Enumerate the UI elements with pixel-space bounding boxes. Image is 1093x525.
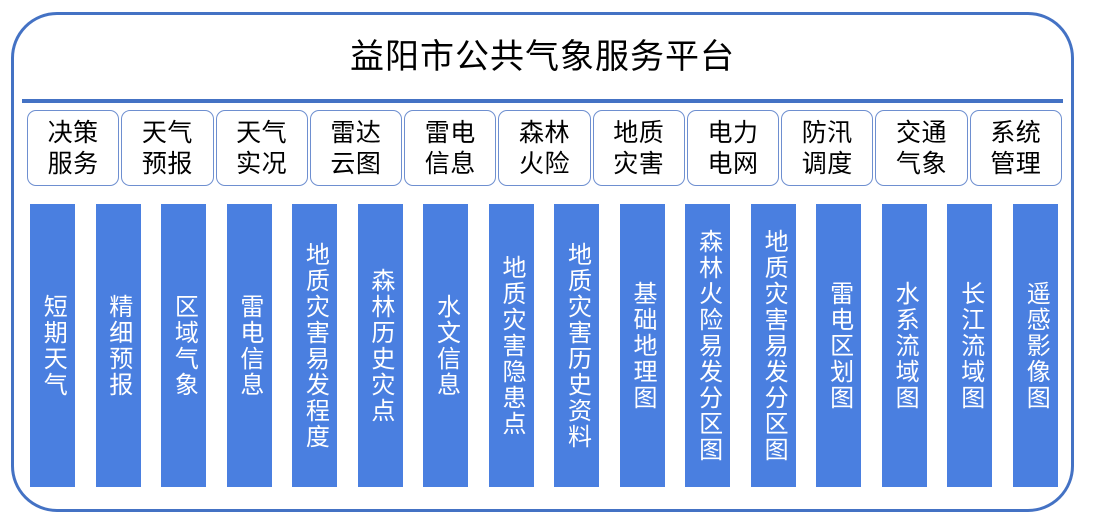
menu-item-label-line2: 服务 (48, 148, 99, 179)
application-frame: 益阳市公共气象服务平台 决策 服务 天气 预报 天气 实况 雷达 云图 雷电 信… (11, 12, 1074, 512)
layer-bar-geo-disaster-susceptibility[interactable]: 地质灾害易发程度 (292, 204, 337, 487)
main-navigation-menu: 决策 服务 天气 预报 天气 实况 雷达 云图 雷电 信息 森林 火险 地质 灾… (27, 110, 1062, 186)
layer-bar-label: 短期天气 (38, 294, 68, 398)
menu-item-power-grid[interactable]: 电力 电网 (687, 110, 779, 186)
layer-bar-water-system-basin-map[interactable]: 水系流域图 (882, 204, 927, 487)
layer-bar-label: 长江流域图 (955, 281, 985, 411)
layer-bar-label: 地质灾害历史资料 (562, 242, 592, 450)
menu-item-label-line2: 气象 (896, 148, 947, 179)
menu-item-label-line1: 天气 (236, 117, 287, 148)
layer-bar-label: 森林历史灾点 (365, 268, 395, 424)
layer-bar-label: 水文信息 (431, 294, 461, 398)
layer-bar-yangtze-basin-map[interactable]: 长江流域图 (947, 204, 992, 487)
menu-item-radar-cloud-map[interactable]: 雷达 云图 (310, 110, 402, 186)
layer-bar-forest-historical-disaster-points[interactable]: 森林历史灾点 (358, 204, 403, 487)
layer-bar-lightning-info[interactable]: 雷电信息 (227, 204, 272, 487)
menu-item-label-line1: 地质 (613, 117, 664, 148)
menu-item-label-line2: 管理 (990, 148, 1041, 179)
menu-item-system-management[interactable]: 系统 管理 (970, 110, 1062, 186)
menu-item-label-line2: 实况 (236, 148, 287, 179)
menu-item-label-line1: 交通 (896, 117, 947, 148)
menu-item-weather-forecast[interactable]: 天气 预报 (121, 110, 213, 186)
layer-bar-label: 水系流域图 (890, 281, 920, 411)
layer-bar-fine-forecast[interactable]: 精细预报 (96, 204, 141, 487)
menu-item-label-line2: 信息 (425, 148, 476, 179)
layer-bar-label: 地质灾害易发分区图 (759, 229, 789, 463)
menu-item-weather-live[interactable]: 天气 实况 (216, 110, 308, 186)
menu-item-traffic-weather[interactable]: 交通 气象 (875, 110, 967, 186)
menu-item-label-line2: 预报 (142, 148, 193, 179)
menu-item-forest-fire-risk[interactable]: 森林 火险 (498, 110, 590, 186)
layer-bar-short-term-weather[interactable]: 短期天气 (30, 204, 75, 487)
menu-item-label-line2: 调度 (802, 148, 853, 179)
layer-bar-label: 地质灾害隐患点 (496, 255, 526, 437)
layer-bar-label: 雷电信息 (234, 294, 264, 398)
menu-item-label-line1: 天气 (142, 117, 193, 148)
menu-item-label-line1: 森林 (519, 117, 570, 148)
menu-item-label-line1: 系统 (990, 117, 1041, 148)
layer-bar-list: 短期天气 精细预报 区域气象 雷电信息 地质灾害易发程度 森林历史灾点 水文信息… (30, 204, 1058, 487)
layer-bar-label: 雷电区划图 (824, 281, 854, 411)
menu-item-decision-service[interactable]: 决策 服务 (27, 110, 119, 186)
layer-bar-base-geographic-map[interactable]: 基础地理图 (620, 204, 665, 487)
menu-item-label-line1: 雷达 (330, 117, 381, 148)
menu-item-label-line2: 灾害 (613, 148, 664, 179)
layer-bar-geo-disaster-zoning-map[interactable]: 地质灾害易发分区图 (751, 204, 796, 487)
layer-bar-hydrological-info[interactable]: 水文信息 (423, 204, 468, 487)
menu-item-label-line1: 电力 (707, 117, 758, 148)
menu-item-lightning-info[interactable]: 雷电 信息 (404, 110, 496, 186)
layer-bar-label: 基础地理图 (628, 281, 658, 411)
title-divider (22, 99, 1063, 103)
layer-bar-geo-disaster-historical-data[interactable]: 地质灾害历史资料 (554, 204, 599, 487)
layer-bar-label: 森林火险易发分区图 (693, 229, 723, 463)
layer-bar-forest-fire-zoning-map[interactable]: 森林火险易发分区图 (685, 204, 730, 487)
layer-bar-regional-meteorology[interactable]: 区域气象 (161, 204, 206, 487)
page-title: 益阳市公共气象服务平台 (350, 40, 735, 74)
menu-item-label-line1: 决策 (48, 117, 99, 148)
menu-item-flood-control[interactable]: 防汛 调度 (781, 110, 873, 186)
layer-bar-lightning-zoning-map[interactable]: 雷电区划图 (816, 204, 861, 487)
layer-bar-label: 区域气象 (169, 294, 199, 398)
menu-item-label-line1: 防汛 (802, 117, 853, 148)
menu-item-geological-disaster[interactable]: 地质 灾害 (593, 110, 685, 186)
layer-bar-label: 地质灾害易发程度 (300, 242, 330, 450)
layer-bar-remote-sensing-image-map[interactable]: 遥感影像图 (1013, 204, 1058, 487)
menu-item-label-line2: 云图 (330, 148, 381, 179)
title-bar: 益阳市公共气象服务平台 (14, 15, 1071, 99)
layer-bar-label: 精细预报 (103, 294, 133, 398)
layer-bar-label: 遥感影像图 (1021, 281, 1051, 411)
menu-item-label-line2: 火险 (519, 148, 570, 179)
menu-item-label-line1: 雷电 (425, 117, 476, 148)
layer-bar-geo-disaster-hazard-points[interactable]: 地质灾害隐患点 (489, 204, 534, 487)
menu-item-label-line2: 电网 (707, 148, 758, 179)
